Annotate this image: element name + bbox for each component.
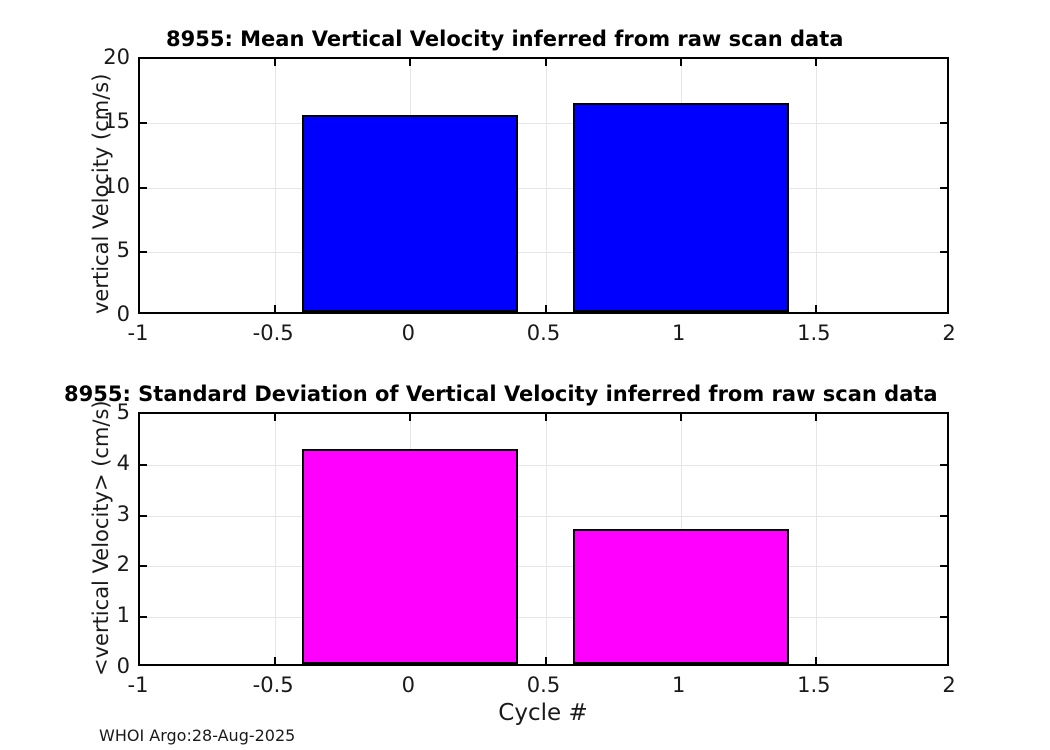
x-tick-mark (680, 59, 682, 66)
x-tick-mark (815, 414, 817, 421)
x-tick-mark (274, 414, 276, 421)
x-tick-label: -0.5 (253, 673, 294, 697)
x-tick-mark (274, 305, 276, 312)
y-axis-label-bottom: <vertical Velocity> (cm/s) (89, 400, 113, 676)
y-tick-mark (940, 464, 947, 466)
y-tick-label: 20 (103, 45, 130, 69)
y-tick-label: 5 (117, 238, 130, 262)
x-tick-label: 0 (402, 321, 415, 345)
plot-area-bottom (138, 412, 949, 666)
gridline-horizontal (140, 188, 947, 189)
x-tick-mark (545, 59, 547, 66)
footer-credit: WHOI Argo:28-Aug-2025 (99, 726, 295, 745)
bar (302, 449, 518, 664)
plot-inner-bottom (140, 414, 947, 664)
y-tick-mark (940, 565, 947, 567)
y-tick-mark (140, 515, 147, 517)
x-tick-label: -0.5 (253, 321, 294, 345)
x-tick-mark (680, 414, 682, 421)
gridline-horizontal (140, 123, 947, 124)
x-tick-mark (274, 59, 276, 66)
y-tick-mark (140, 616, 147, 618)
x-tick-mark (815, 59, 817, 66)
x-tick-mark (274, 657, 276, 664)
y-tick-label: 4 (117, 451, 130, 475)
y-tick-label: 15 (103, 109, 130, 133)
y-tick-mark (140, 122, 147, 124)
y-tick-mark (940, 616, 947, 618)
x-tick-mark (545, 657, 547, 664)
gridline-horizontal (140, 252, 947, 253)
y-tick-label: 1 (117, 603, 130, 627)
x-axis-label: Cycle # (498, 700, 587, 726)
y-tick-label: 3 (117, 502, 130, 526)
x-tick-label: 1.5 (797, 673, 830, 697)
gridline-vertical (816, 414, 817, 664)
x-tick-mark (545, 414, 547, 421)
gridline-vertical (275, 59, 276, 312)
gridline-horizontal (140, 465, 947, 466)
y-tick-label: 10 (103, 174, 130, 198)
bar (573, 529, 789, 664)
gridline-horizontal (140, 566, 947, 567)
y-tick-mark (940, 515, 947, 517)
chart-title-top: 8955: Mean Vertical Velocity inferred fr… (166, 27, 843, 51)
x-tick-mark (815, 657, 817, 664)
y-tick-label: 5 (117, 400, 130, 424)
y-tick-mark (140, 187, 147, 189)
y-tick-mark (140, 251, 147, 253)
y-tick-mark (140, 464, 147, 466)
x-tick-mark (409, 59, 411, 66)
x-tick-label: 2 (942, 321, 955, 345)
x-tick-mark (815, 305, 817, 312)
x-tick-label: -1 (128, 321, 149, 345)
plot-area-top (138, 57, 949, 314)
y-tick-mark (140, 565, 147, 567)
x-tick-mark (545, 305, 547, 312)
gridline-vertical (816, 59, 817, 312)
y-tick-mark (940, 187, 947, 189)
plot-inner-top (140, 59, 947, 312)
x-tick-label: -1 (128, 673, 149, 697)
x-tick-mark (409, 414, 411, 421)
bar (302, 115, 518, 312)
x-tick-label: 0 (402, 673, 415, 697)
x-tick-label: 0.5 (527, 673, 560, 697)
gridline-horizontal (140, 516, 947, 517)
gridline-vertical (546, 59, 547, 312)
x-tick-label: 0.5 (527, 321, 560, 345)
y-tick-mark (940, 251, 947, 253)
gridline-vertical (275, 414, 276, 664)
x-tick-label: 2 (942, 673, 955, 697)
x-tick-label: 1.5 (797, 321, 830, 345)
gridline-horizontal (140, 617, 947, 618)
chart-title-bottom: 8955: Standard Deviation of Vertical Vel… (64, 382, 938, 406)
bar (573, 103, 789, 312)
y-tick-mark (940, 122, 947, 124)
x-tick-label: 1 (672, 673, 685, 697)
gridline-vertical (546, 414, 547, 664)
x-tick-label: 1 (672, 321, 685, 345)
y-tick-label: 2 (117, 552, 130, 576)
figure-canvas: 8955: Mean Vertical Velocity inferred fr… (0, 0, 1050, 750)
